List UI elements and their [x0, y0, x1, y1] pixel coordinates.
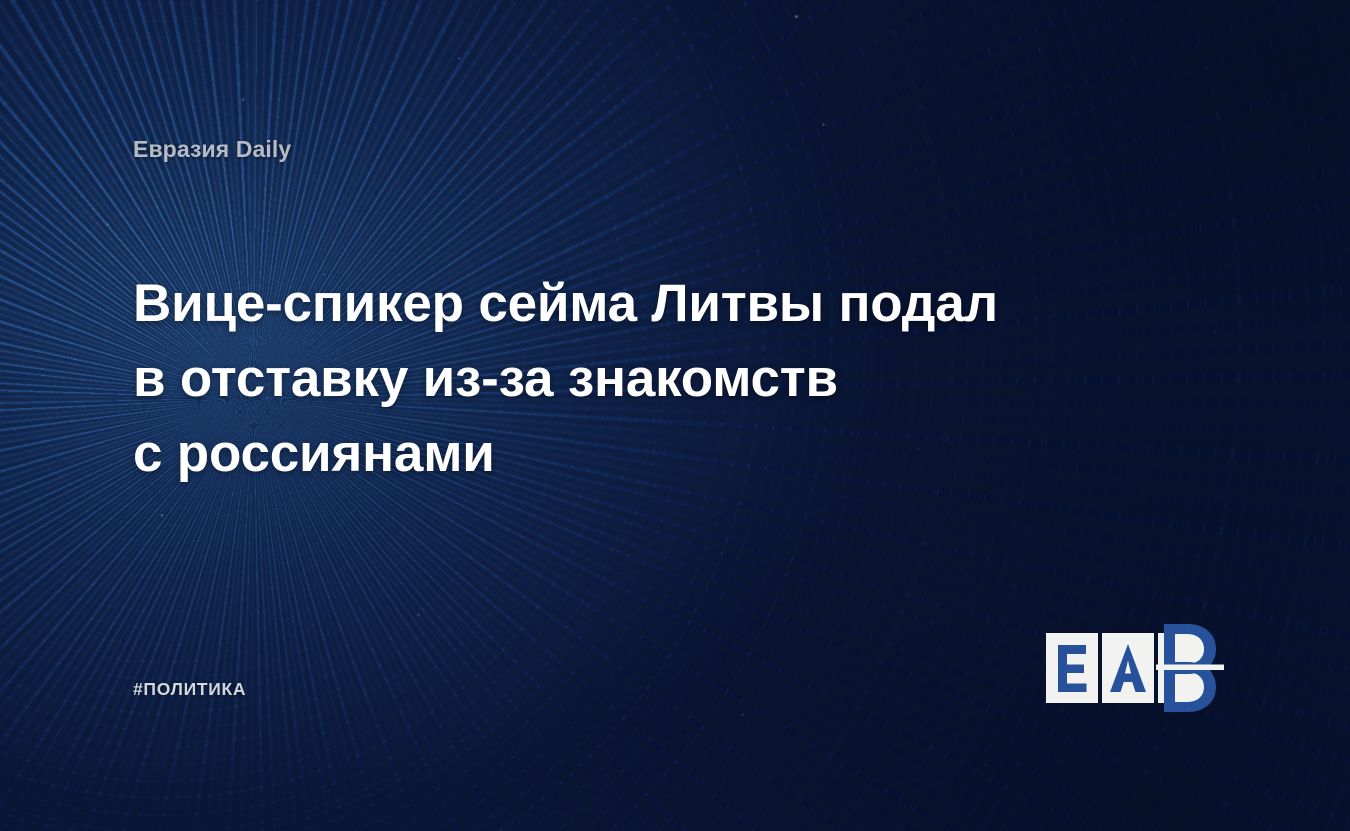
news-share-card: Евразия Daily Вице-спикер сейма Литвы по… [0, 0, 1350, 831]
logo-letter-d-group [1158, 622, 1222, 714]
card-content: Евразия Daily Вице-спикер сейма Литвы по… [0, 0, 1350, 831]
logo-letter-e-icon [1046, 633, 1098, 703]
eadaily-logo [1046, 622, 1222, 714]
headline-line-1: Вице-спикер сейма Литвы подал [133, 266, 1063, 341]
publication-brand: Евразия Daily [133, 136, 291, 163]
headline-line-2: в отставку из-за знакомств [133, 341, 1063, 416]
headline: Вице-спикер сейма Литвы подал в отставку… [133, 266, 1063, 491]
logo-tile-a [1102, 633, 1154, 703]
logo-letter-a-icon [1102, 633, 1154, 703]
category-hashtag: #ПОЛИТИКА [133, 679, 246, 700]
headline-line-3: с россиянами [133, 416, 1063, 491]
logo-letter-d-icon [1158, 622, 1222, 714]
logo-tile-e [1046, 633, 1098, 703]
